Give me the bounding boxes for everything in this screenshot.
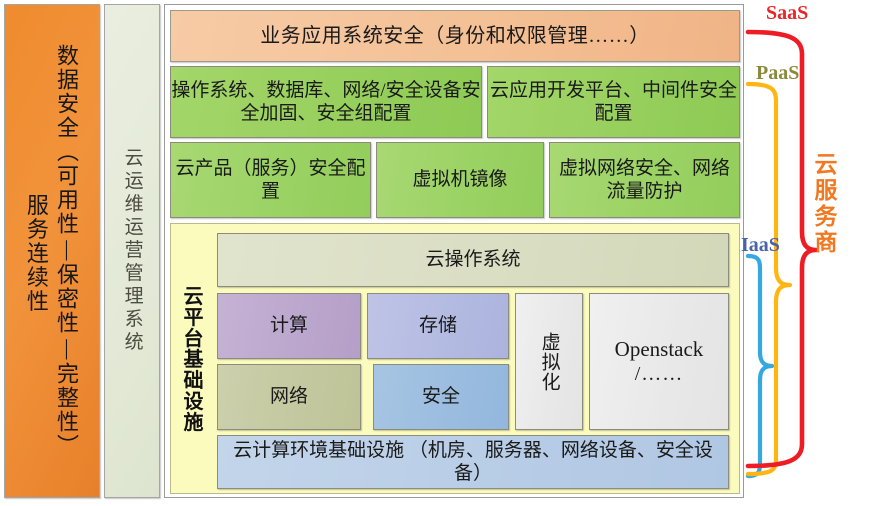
ops-management-label: 云运维运营管理系统 — [120, 148, 143, 355]
openstack-label: Openstack — [615, 337, 704, 363]
virtualization-label: 虚拟化 — [537, 332, 560, 392]
virtualization-box: 虚拟化 — [515, 293, 583, 430]
network-box: 网络 — [217, 364, 361, 430]
iaas-bracket-label: IaaS — [741, 234, 780, 257]
storage-label: 存储 — [419, 314, 457, 337]
compute-box: 计算 — [217, 293, 361, 359]
ops-management-column: 云运维运营管理系统 — [104, 4, 160, 498]
openstack-box: Openstack /…… — [589, 293, 729, 430]
cloud-operating-system-box: 云操作系统 — [217, 233, 729, 287]
infra-label: 云计算环境基础设施 （机房、服务器、网络设备、安全设备） — [226, 439, 720, 485]
storage-box: 存储 — [367, 293, 509, 359]
paas-os-label: 操作系统、数据库、网络/安全设备安全加固、安全组配置 — [171, 79, 481, 125]
paas-dev-platform-box: 云应用开发平台、中间件安全配置 — [487, 66, 740, 138]
paas-vm-image-box: 虚拟机镜像 — [376, 142, 544, 218]
paas-os-hardening-box: 操作系统、数据库、网络/安全设备安全加固、安全组配置 — [170, 66, 482, 138]
saas-application-security-box: 业务应用系统安全（身份和权限管理……） — [170, 10, 740, 62]
diagram-canvas: 数据安全（可用性|保密性|完整性） 服务连续性 云运维运营管理系统 业务应用系统… — [0, 0, 871, 506]
cloud-environment-infrastructure-box: 云计算环境基础设施 （机房、服务器、网络设备、安全设备） — [217, 435, 729, 489]
service-continuity-label: 服务连续性 — [22, 193, 49, 313]
iaas-bracket-path — [748, 256, 772, 476]
paas-dev-label: 云应用开发平台、中间件安全配置 — [488, 79, 739, 125]
compute-label: 计算 — [270, 314, 308, 337]
paas-bracket-label: PaaS — [756, 62, 799, 85]
paas-product-label: 云产品（服务）安全配置 — [171, 157, 370, 203]
paas-net-label: 虚拟网络安全、网络流量防护 — [550, 157, 739, 203]
paas-image-label: 虚拟机镜像 — [412, 168, 507, 191]
saas-bracket-label: SaaS — [766, 2, 808, 25]
data-security-column: 数据安全（可用性|保密性|完整性） 服务连续性 — [4, 4, 100, 498]
paas-product-config-box: 云产品（服务）安全配置 — [170, 142, 371, 218]
paas-virtual-network-box: 虚拟网络安全、网络流量防护 — [549, 142, 740, 218]
paas-bracket-path — [748, 84, 790, 474]
saas-label: 业务应用系统安全（身份和权限管理……） — [260, 24, 650, 48]
cloud-service-provider-label: 云服务商 — [806, 152, 840, 256]
network-label: 网络 — [270, 385, 308, 408]
service-stack-frame: 业务应用系统安全（身份和权限管理……） 操作系统、数据库、网络/安全设备安全加固… — [164, 4, 744, 498]
cloud-os-label: 云操作系统 — [425, 248, 520, 271]
cloud-platform-infra-label: 云平台基础设施 — [177, 285, 206, 432]
security-box: 安全 — [373, 364, 509, 430]
data-security-label: 数据安全（可用性|保密性|完整性） — [52, 44, 79, 458]
openstack-etc-label: /…… — [635, 362, 684, 386]
iaas-panel: 云平台基础设施 云操作系统 计算 存储 网络 安全 虚拟化 Openstack … — [170, 223, 740, 494]
security-label: 安全 — [422, 385, 460, 408]
